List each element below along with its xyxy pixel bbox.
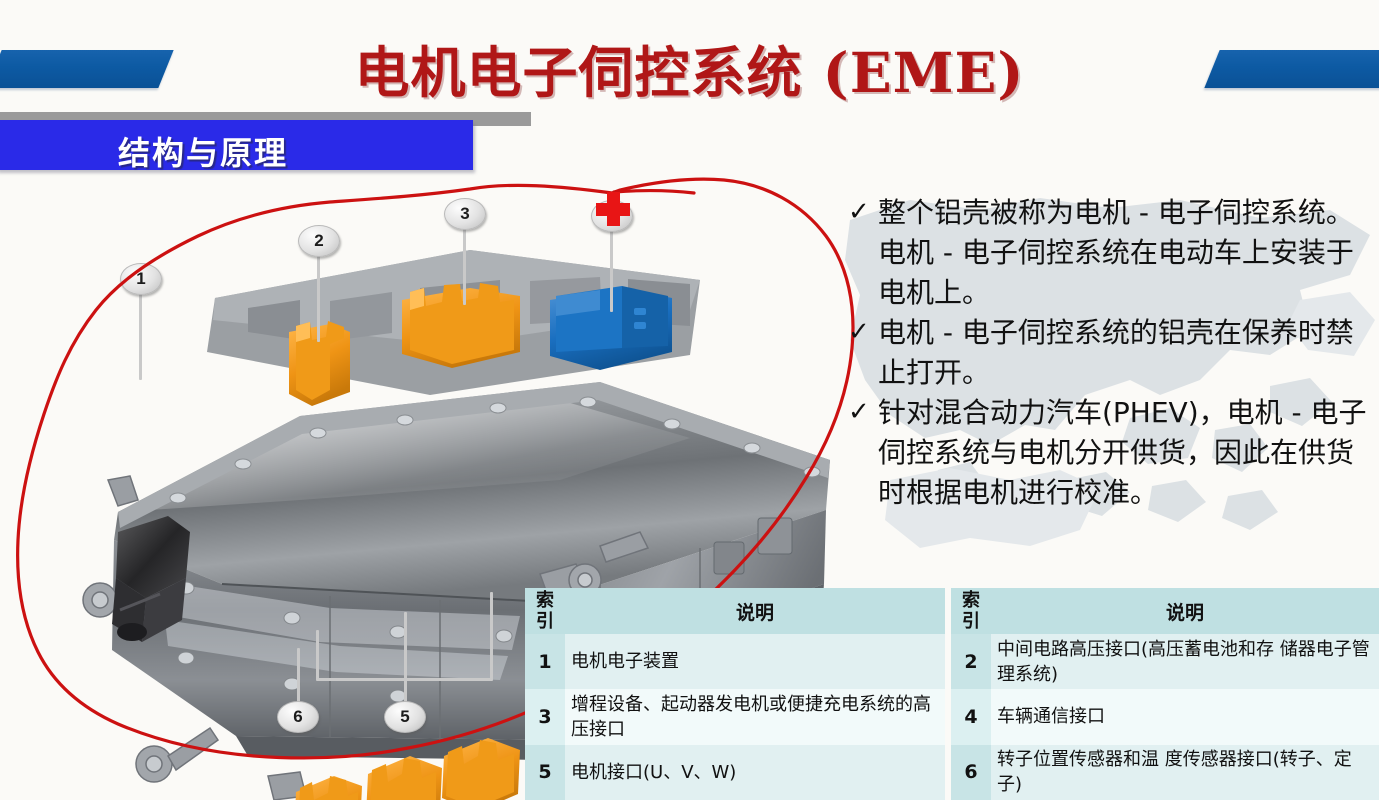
- callout-3[interactable]: 3: [444, 198, 486, 230]
- checkmark-icon: ✓: [848, 393, 878, 431]
- callout-1[interactable]: 1: [120, 263, 162, 295]
- leader-line-2: [317, 247, 320, 342]
- row-3-desc-left: 电机接口(U、V、W): [565, 745, 945, 800]
- header-index-left-l2: 引: [536, 611, 554, 632]
- row-2-desc-right: 车辆通信接口: [991, 689, 1379, 744]
- header-description-left: 说明: [565, 588, 945, 634]
- bullet-list: ✓ 整个铝壳被称为电机 - 电子伺控系统。 电机 - 电子伺控系统在电动车上安装…: [848, 193, 1379, 513]
- bullet-item: 伺控系统与电机分开供货，因此在供货: [848, 433, 1379, 472]
- table-row: 5 电机接口(U、V、W) 6 转子位置传感器和温 度传感器接口(转子、定子): [525, 745, 1379, 800]
- bullet-text: 电机 - 电子伺控系统的铝壳在保养时禁: [878, 313, 1379, 352]
- bullet-item: ✓ 电机 - 电子伺控系统的铝壳在保养时禁: [848, 313, 1379, 352]
- bullet-item: ✓ 针对混合动力汽车(PHEV)，电机 - 电子: [848, 393, 1379, 432]
- callout-1-label: 1: [136, 269, 145, 289]
- row-1-desc-left: 电机电子装置: [565, 634, 945, 689]
- leader-line-5a: [316, 630, 319, 680]
- callout-6-label: 6: [293, 707, 302, 727]
- header-index-right-l2: 引: [962, 611, 980, 632]
- leader-line-5c: [490, 592, 493, 680]
- legend-table: 索 引 说明 索 引 说明 1 电机电子装置 2 中间电路高压接口(高压蓄电池和…: [525, 588, 1379, 800]
- row-1-index-left: 1: [525, 634, 565, 689]
- row-3-index-right: 6: [951, 745, 991, 800]
- page-title-text: 电机电子伺控系统 (EME): [355, 40, 1025, 105]
- bullet-text: 伺控系统与电机分开供货，因此在供货: [878, 433, 1379, 472]
- callout-3-label: 3: [460, 204, 469, 224]
- bullet-item: 止打开。: [848, 353, 1379, 392]
- leader-line-5b: [404, 612, 407, 680]
- leader-line-3: [463, 220, 466, 305]
- table-header-row: 索 引 说明 索 引 说明: [525, 588, 1379, 634]
- bullet-text: 止打开。: [878, 353, 1379, 392]
- page-title: 电机电子伺控系统 (EME): [0, 28, 1379, 108]
- bullet-item: 电机 - 电子伺控系统在电动车上安装于: [848, 233, 1379, 272]
- row-2-index-left: 3: [525, 689, 565, 744]
- callout-2[interactable]: 2: [298, 225, 340, 257]
- callout-5[interactable]: 5: [384, 701, 426, 733]
- bullet-item: ✓ 整个铝壳被称为电机 - 电子伺控系统。: [848, 193, 1379, 232]
- row-2-desc-left: 增程设备、起动器发电机或便捷充电系统的高压接口: [565, 689, 945, 744]
- leader-line-4: [610, 222, 613, 312]
- bullet-text: 整个铝壳被称为电机 - 电子伺控系统。: [878, 193, 1379, 232]
- bullet-text: 电机上。: [878, 273, 1379, 312]
- bullet-text: 电机 - 电子伺控系统在电动车上安装于: [878, 233, 1379, 272]
- bullet-item: 时根据电机进行校准。: [848, 473, 1379, 512]
- header-description-right: 说明: [991, 588, 1379, 634]
- callout-5-label: 5: [400, 707, 409, 727]
- callout-6[interactable]: 6: [277, 701, 319, 733]
- top-orange-connector-middle: [402, 283, 520, 368]
- checkmark-icon: ✓: [848, 313, 878, 351]
- bullet-item: 电机上。: [848, 273, 1379, 312]
- header-index-left: 索 引: [525, 588, 565, 634]
- row-1-index-right: 2: [951, 634, 991, 689]
- checkmark-icon: ✓: [848, 193, 878, 231]
- bullet-text: 时根据电机进行校准。: [878, 473, 1379, 512]
- table-row: 3 增程设备、起动器发电机或便捷充电系统的高压接口 4 车辆通信接口: [525, 689, 1379, 744]
- callout-2-label: 2: [314, 231, 323, 251]
- header-index-left-l1: 索: [536, 590, 554, 611]
- table-row: 1 电机电子装置 2 中间电路高压接口(高压蓄电池和存 储器电子管理系统): [525, 634, 1379, 689]
- row-3-index-left: 5: [525, 745, 565, 800]
- row-1-desc-right: 中间电路高压接口(高压蓄电池和存 储器电子管理系统): [991, 634, 1379, 689]
- row-3-desc-right: 转子位置传感器和温 度传感器接口(转子、定子): [991, 745, 1379, 800]
- slide-canvas: 电机电子伺控系统 (EME) 结构与原理: [0, 0, 1379, 800]
- bullet-text: 针对混合动力汽车(PHEV)，电机 - 电子: [878, 393, 1379, 432]
- row-2-index-right: 4: [951, 689, 991, 744]
- leader-line-1: [139, 285, 142, 380]
- red-plus-cursor: [596, 192, 630, 226]
- subtitle-text: 结构与原理: [118, 128, 288, 174]
- header-index-right: 索 引: [951, 588, 991, 634]
- header-index-right-l1: 索: [962, 590, 980, 611]
